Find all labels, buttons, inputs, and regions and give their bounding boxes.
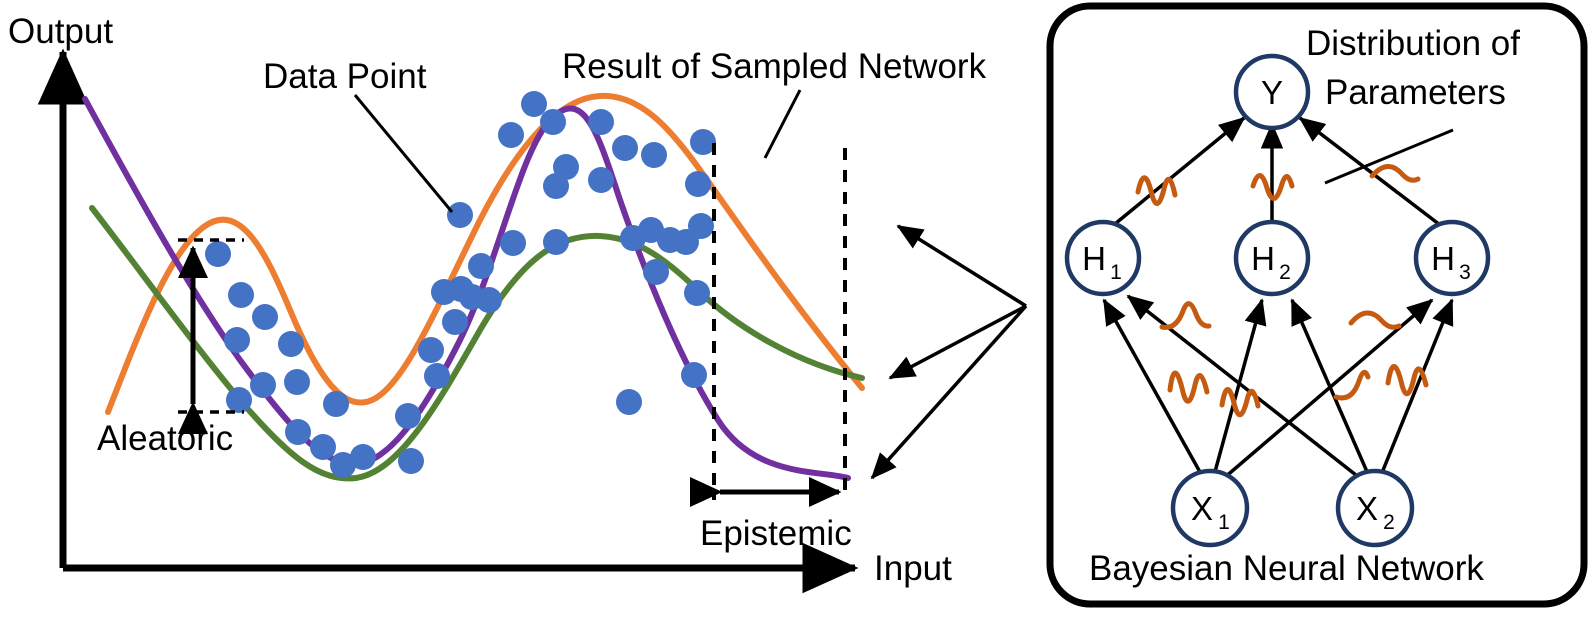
node-h2[interactable]: H 2 <box>1236 222 1308 294</box>
data-point <box>681 362 707 388</box>
node-h1[interactable]: H 1 <box>1067 222 1139 294</box>
node-x1[interactable]: X 1 <box>1173 471 1247 545</box>
data-point <box>442 309 468 335</box>
data-point <box>684 280 710 306</box>
result-sampled-network-label: Result of Sampled Network <box>562 47 987 86</box>
data-point <box>418 337 444 363</box>
data-point <box>588 167 614 193</box>
bayesian-network-caption: Bayesian Neural Network <box>1089 549 1484 588</box>
data-point <box>310 434 336 460</box>
distribution-glyph <box>1222 389 1258 414</box>
data-point <box>228 282 254 308</box>
aleatoric-measure <box>178 240 244 412</box>
distribution-glyph <box>1351 313 1399 327</box>
data-point <box>500 230 526 256</box>
data-point <box>250 372 276 398</box>
node-x1-label: X <box>1191 490 1213 527</box>
data-point <box>323 391 349 417</box>
data-point <box>588 109 614 135</box>
data-point <box>284 369 310 395</box>
sampled-network-leader-line <box>765 90 800 158</box>
node-y-label: Y <box>1261 74 1283 111</box>
data-point-leader-line <box>355 95 452 212</box>
data-point <box>685 171 711 197</box>
data-point <box>205 241 231 267</box>
node-y[interactable]: Y <box>1236 56 1308 128</box>
data-point <box>224 327 250 353</box>
data-point <box>616 389 642 415</box>
data-point <box>643 259 669 285</box>
node-h3-subscript: 3 <box>1459 261 1471 284</box>
node-h2-subscript: 2 <box>1279 261 1291 284</box>
data-point <box>521 91 547 117</box>
data-point <box>498 122 524 148</box>
data-point <box>424 363 450 389</box>
data-point <box>540 109 566 135</box>
distribution-of-parameters-leader-line <box>1325 130 1453 183</box>
node-h1-label: H <box>1082 240 1106 277</box>
node-h2-label: H <box>1251 240 1275 277</box>
aleatoric-label: Aleatoric <box>97 419 233 458</box>
data-point <box>543 229 569 255</box>
data-point <box>468 253 494 279</box>
distribution-glyph <box>1170 373 1207 401</box>
edges-hidden-to-output <box>1110 118 1444 228</box>
data-point <box>476 287 502 313</box>
output-axis-label: Output <box>8 12 113 51</box>
node-x2-subscript: 2 <box>1383 511 1395 534</box>
node-x2[interactable]: X 2 <box>1338 471 1412 545</box>
data-point <box>395 403 421 429</box>
input-axis-label: Input <box>874 549 952 588</box>
distribution-of-parameters-label-line2: Parameters <box>1325 73 1506 112</box>
distribution-glyph <box>1162 304 1209 328</box>
data-point <box>252 304 278 330</box>
epistemic-label: Epistemic <box>700 514 852 553</box>
node-h3-label: H <box>1431 240 1455 277</box>
distribution-of-parameters-label-line1: Distribution of <box>1306 24 1520 63</box>
figure-root: Output Input Data Point Result of Sample… <box>0 0 1596 619</box>
data-point <box>398 448 424 474</box>
node-h3[interactable]: H 3 <box>1416 222 1488 294</box>
data-point-label: Data Point <box>263 57 427 96</box>
data-point <box>226 387 252 413</box>
node-x2-label: X <box>1356 490 1378 527</box>
node-h1-subscript: 1 <box>1110 261 1122 284</box>
data-point <box>612 135 638 161</box>
data-point <box>330 452 356 478</box>
data-point <box>447 202 473 228</box>
data-point <box>278 331 304 357</box>
data-point <box>543 173 569 199</box>
node-x1-subscript: 1 <box>1218 511 1230 534</box>
data-point <box>688 213 714 239</box>
data-point <box>641 142 667 168</box>
diagram-svg: Output Input Data Point Result of Sample… <box>0 0 1596 619</box>
data-point <box>285 419 311 445</box>
network-to-curve-arrows <box>872 226 1026 478</box>
